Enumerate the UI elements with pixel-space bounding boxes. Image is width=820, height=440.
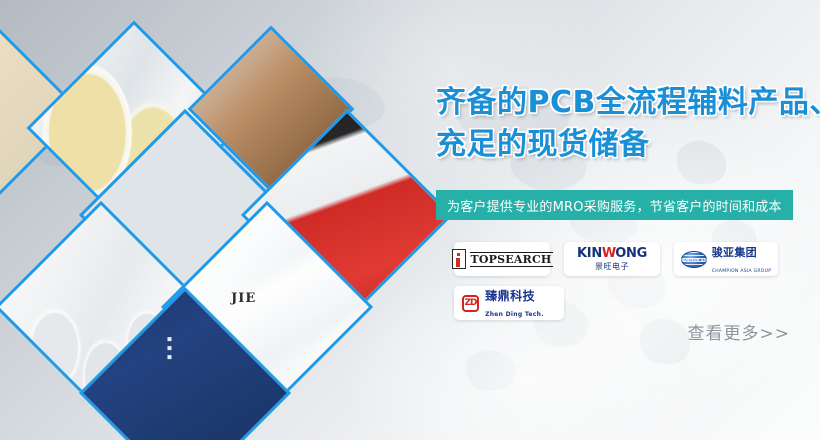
logo-topsearch[interactable]: TOPSEARCH (454, 242, 550, 276)
product-diamond-collage: JIE (0, 0, 430, 440)
zhen-ding-name-cn: 臻鼎科技 (485, 289, 535, 303)
tile-caption-jie: JIE (232, 291, 257, 306)
headline-line-2: 充足的现货储备 (436, 124, 820, 166)
topsearch-wordmark: TOPSEARCH (470, 252, 553, 267)
globe-icon: CHAMPION ASIA (681, 251, 707, 268)
kinwong-name-accent: W (602, 246, 615, 261)
zhen-ding-name-en: Zhen Ding Tech. (485, 311, 544, 318)
bag-seal-dots (162, 332, 171, 364)
headline-line-1: 齐备的PCB全流程辅料产品、 (436, 82, 820, 124)
kinwong-subtitle-cn: 景旺电子 (577, 263, 647, 271)
subtitle-text: 为客户提供专业的MRO采购服务，节省客户的时间和成本 (447, 196, 782, 215)
banner-content: 齐备的PCB全流程辅料产品、 充足的现货储备 为客户提供专业的MRO采购服务，节… (430, 0, 820, 440)
globe-label: CHAMPION ASIA (677, 257, 710, 262)
logo-row-1: TOPSEARCH KINWONG 景旺电子 CHAMPION ASIA 骏亚集… (454, 242, 820, 276)
champion-name-en: CHAMPION ASIA GROUP (712, 269, 772, 274)
kinwong-name-head: KIN (577, 246, 602, 261)
zhen-ding-monogram-icon: ZD (462, 295, 479, 312)
topsearch-i-mark-icon (452, 249, 466, 269)
logo-row-2: ZD 臻鼎科技 Zhen Ding Tech. (454, 286, 820, 320)
champion-name-cn: 骏亚集团 (712, 246, 757, 259)
logo-zhen-ding[interactable]: ZD 臻鼎科技 Zhen Ding Tech. (454, 286, 564, 320)
kinwong-wordmark: KINWONG (577, 247, 647, 260)
subtitle-bar: 为客户提供专业的MRO采购服务，节省客户的时间和成本 (436, 190, 793, 220)
logo-champion-asia[interactable]: CHAMPION ASIA 骏亚集团 CHAMPION ASIA GROUP (674, 242, 778, 276)
logo-kinwong[interactable]: KINWONG 景旺电子 (564, 242, 660, 276)
view-more-link[interactable]: 查看更多>> (688, 319, 791, 344)
partner-logo-grid: TOPSEARCH KINWONG 景旺电子 CHAMPION ASIA 骏亚集… (454, 242, 820, 330)
promo-banner: JIE 齐备的PCB全流程辅料产品、 充足的现货储备 为客户提供专业的MRO采购… (0, 0, 820, 440)
kinwong-name-tail: ONG (615, 246, 647, 261)
headline: 齐备的PCB全流程辅料产品、 充足的现货储备 (436, 82, 820, 166)
